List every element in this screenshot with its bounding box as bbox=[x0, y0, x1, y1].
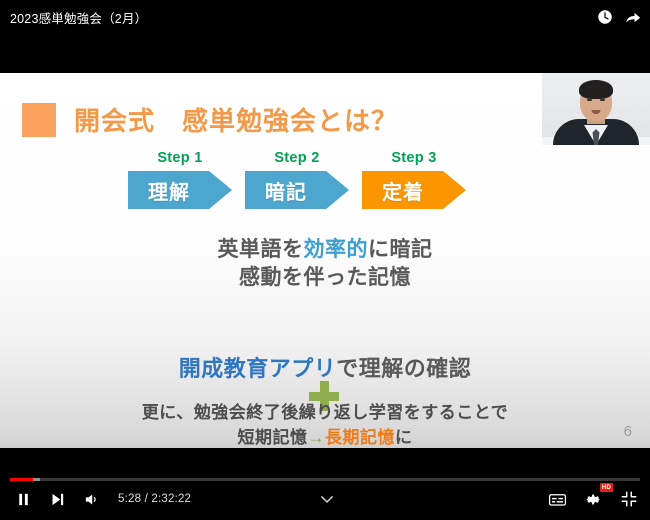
time-display: 5:28 / 2:32:22 bbox=[118, 493, 191, 505]
progress-played bbox=[10, 478, 33, 481]
mid-line-1-highlight: 効率的 bbox=[304, 238, 369, 261]
share-arrow-icon[interactable] bbox=[624, 8, 642, 26]
note-line-2: 短期記憶→長期記憶に bbox=[0, 426, 650, 448]
hd-badge: HD bbox=[600, 483, 613, 492]
mid-description: 英単語を効率的に暗記 感動を伴った記憶 bbox=[0, 236, 650, 292]
step-2-label: Step 2 bbox=[274, 150, 319, 166]
step-1-arrow: 理解 bbox=[128, 171, 232, 209]
slide-title-row: 開会式 感単勉強会とは？ bbox=[22, 101, 398, 138]
step-1: Step 1 理解 bbox=[128, 150, 232, 209]
note-line-2-highlight: 長期記憶 bbox=[325, 428, 395, 447]
exit-fullscreen-icon[interactable] bbox=[614, 486, 644, 512]
lower-description: 開成教育アプリで理解の確認 更に、勉強会終了後繰り返し学習をすることで 短期記憶… bbox=[0, 351, 650, 448]
presenter-video-inset bbox=[542, 73, 650, 145]
subtitles-icon[interactable] bbox=[542, 486, 572, 512]
progress-bar[interactable] bbox=[10, 478, 640, 481]
step-1-label: Step 1 bbox=[157, 150, 202, 166]
step-3-arrow: 定着 bbox=[362, 171, 466, 209]
app-line-rest: で理解の確認 bbox=[336, 356, 471, 381]
note-line-2-part-a: 短期記憶 bbox=[238, 428, 308, 447]
volume-icon[interactable] bbox=[76, 486, 106, 512]
player-top-bar: 2023感単勉強会（2月） bbox=[0, 0, 650, 44]
player-controls: 5:28 / 2:32:22 HD bbox=[0, 478, 650, 520]
video-player[interactable]: 2023感単勉強会（2月） Image 開会式 感単勉強会とは？ Step 1 … bbox=[0, 0, 650, 520]
note-line-2-part-b: に bbox=[395, 428, 413, 447]
mid-line-2: 感動を伴った記憶 bbox=[0, 264, 650, 292]
title-bullet-square bbox=[22, 103, 56, 137]
controls-right-group: HD bbox=[542, 486, 644, 512]
mid-line-1: 英単語を効率的に暗記 bbox=[0, 236, 650, 264]
step-3-label: Step 3 bbox=[391, 150, 436, 166]
slide-page-number: 6 bbox=[624, 423, 632, 440]
gear-icon[interactable]: HD bbox=[578, 486, 608, 512]
mid-line-1-part-a: 英単語を bbox=[218, 238, 304, 261]
pause-icon[interactable] bbox=[8, 486, 38, 512]
step-3: Step 3 定着 bbox=[362, 150, 466, 209]
note-line-2-arrow: → bbox=[308, 428, 326, 447]
app-line: 開成教育アプリで理解の確認 bbox=[0, 351, 650, 383]
next-track-icon[interactable] bbox=[42, 486, 72, 512]
mid-line-1-part-b: に暗記 bbox=[368, 238, 433, 261]
chevron-down-icon[interactable] bbox=[318, 490, 336, 508]
clock-icon[interactable] bbox=[596, 8, 614, 26]
presenter-hair bbox=[579, 80, 613, 99]
presenter-eye-left bbox=[587, 99, 592, 101]
step-2: Step 2 暗記 bbox=[245, 150, 349, 209]
controls-left-group: 5:28 / 2:32:22 bbox=[8, 486, 191, 512]
steps-diagram: Step 1 理解 Step 2 暗記 Step 3 定着 bbox=[128, 150, 466, 209]
step-2-text: 暗記 bbox=[265, 176, 307, 205]
video-title: 2023感単勉強会（2月） bbox=[10, 8, 147, 27]
step-2-arrow: 暗記 bbox=[245, 171, 349, 209]
app-line-highlight: 開成教育アプリ bbox=[179, 356, 337, 381]
step-3-text: 定着 bbox=[382, 176, 424, 205]
step-1-text: 理解 bbox=[148, 176, 190, 205]
note-line-1: 更に、勉強会終了後繰り返し学習をすることで bbox=[0, 401, 650, 426]
presenter-eye-right bbox=[600, 99, 605, 101]
page-title: 開会式 感単勉強会とは？ bbox=[74, 101, 398, 138]
